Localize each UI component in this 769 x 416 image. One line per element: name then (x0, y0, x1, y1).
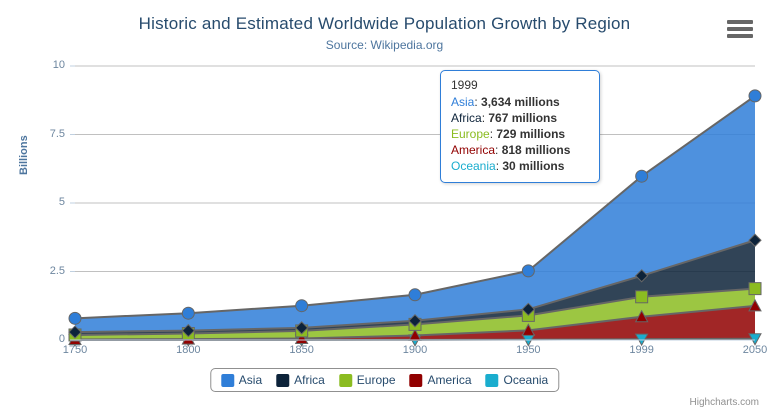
tooltip-series-value: 818 millions (502, 143, 571, 157)
tooltip-series-value: 729 millions (496, 127, 565, 141)
chart-legend: Asia Africa Europe America Oceania (210, 368, 559, 392)
legend-label-america: America (428, 373, 472, 387)
tooltip-series-value: 767 millions (488, 111, 557, 125)
x-axis-tick-label: 1750 (45, 344, 105, 356)
tooltip-series-name: Asia (451, 95, 474, 109)
tooltip-row: America: 818 millions (451, 142, 589, 158)
legend-swatch-europe (339, 374, 352, 387)
tooltip-series-value: 3,634 millions (481, 95, 560, 109)
tooltip-rows: Asia: 3,634 millionsAfrica: 767 millions… (451, 94, 589, 174)
legend-item-europe[interactable]: Europe (339, 373, 396, 387)
tooltip-row: Asia: 3,634 millions (451, 94, 589, 110)
legend-swatch-america (410, 374, 423, 387)
y-axis-title: Billions (18, 135, 30, 175)
y-axis-tick-label: 5 (21, 196, 65, 208)
x-axis-tick-label: 1999 (612, 344, 672, 356)
x-axis-tick-label: 1850 (272, 344, 332, 356)
tooltip-series-value: 30 millions (502, 159, 564, 173)
x-axis-tick-label: 1800 (158, 344, 218, 356)
tooltip-series-name: Oceania (451, 159, 496, 173)
tooltip-series-name: Africa (451, 111, 482, 125)
tooltip-header: 1999 (451, 78, 589, 92)
x-axis-tick-label: 1900 (385, 344, 445, 356)
legend-item-asia[interactable]: Asia (221, 373, 262, 387)
legend-label-asia: Asia (239, 373, 262, 387)
tooltip-series-name: America (451, 143, 495, 157)
legend-swatch-africa (276, 374, 289, 387)
tooltip-row: Europe: 729 millions (451, 126, 589, 142)
y-axis-tick-label: 10 (21, 59, 65, 71)
x-axis-tick-label: 1950 (498, 344, 558, 356)
legend-item-america[interactable]: America (410, 373, 472, 387)
legend-label-europe: Europe (357, 373, 396, 387)
legend-item-africa[interactable]: Africa (276, 373, 325, 387)
legend-label-africa: Africa (294, 373, 325, 387)
legend-swatch-asia (221, 374, 234, 387)
legend-swatch-oceania (486, 374, 499, 387)
legend-item-oceania[interactable]: Oceania (486, 373, 549, 387)
tooltip-row: Oceania: 30 millions (451, 158, 589, 174)
legend-label-oceania: Oceania (504, 373, 549, 387)
tooltip-row: Africa: 767 millions (451, 110, 589, 126)
y-axis-tick-label: 7.5 (21, 128, 65, 140)
x-axis-tick-label: 2050 (725, 344, 769, 356)
tooltip-series-name: Europe (451, 127, 490, 141)
series-tooltip: 1999 Asia: 3,634 millionsAfrica: 767 mil… (440, 70, 600, 183)
y-axis-tick-label: 2.5 (21, 265, 65, 277)
credits-link[interactable]: Highcharts.com (690, 397, 759, 408)
